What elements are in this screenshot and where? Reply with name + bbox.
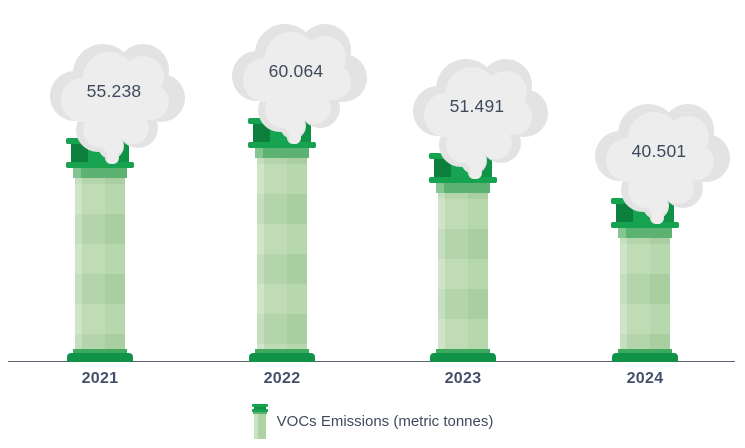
plot-area: 55.23860.06451.49140.501 bbox=[0, 0, 745, 362]
smokestack-foot bbox=[67, 353, 133, 362]
chart-legend: VOCs Emissions (metric tonnes) bbox=[0, 404, 745, 439]
legend-swatch-rim-top bbox=[252, 404, 268, 407]
smokestack-shaft bbox=[620, 236, 670, 362]
smoke-cloud-data-label: 55.238 bbox=[43, 44, 193, 164]
smokestack-shaft bbox=[257, 156, 307, 362]
smokestack-highlight-left bbox=[257, 156, 264, 362]
smokestack-highlight-mid bbox=[82, 176, 105, 362]
smokestack-highlight-mid bbox=[264, 156, 287, 362]
smoke-cloud-data-label: 60.064 bbox=[225, 24, 375, 144]
smokestack-highlight-left bbox=[75, 176, 82, 362]
legend-swatch-highlight bbox=[254, 411, 258, 439]
smokestack-highlight-mid bbox=[445, 191, 468, 362]
legend-swatch-rim-bottom bbox=[252, 409, 268, 412]
smokestack-foot bbox=[612, 353, 678, 362]
smokestack-shaft bbox=[75, 176, 125, 362]
smokestack-foot bbox=[249, 353, 315, 362]
category-label-2024: 2024 bbox=[627, 370, 664, 388]
smokestack-highlight-mid bbox=[627, 236, 650, 362]
smoke-cloud-data-label: 40.501 bbox=[588, 104, 738, 224]
smokestack-shaft bbox=[438, 191, 488, 362]
category-label-2022: 2022 bbox=[264, 370, 301, 388]
category-label-2023: 2023 bbox=[445, 370, 482, 388]
smokestack-highlight-left bbox=[620, 236, 627, 362]
smokestack-icon bbox=[252, 404, 268, 439]
category-label-2021: 2021 bbox=[82, 370, 119, 388]
smokestack-highlight-left bbox=[438, 191, 445, 362]
smokestack-foot bbox=[430, 353, 496, 362]
legend-item-label: VOCs Emissions (metric tonnes) bbox=[277, 413, 494, 430]
voc-emissions-smokestack-chart: 55.23860.06451.49140.501 202120222023202… bbox=[0, 0, 745, 448]
legend-swatch-body bbox=[254, 411, 266, 439]
smoke-cloud-data-label: 51.491 bbox=[406, 59, 556, 179]
